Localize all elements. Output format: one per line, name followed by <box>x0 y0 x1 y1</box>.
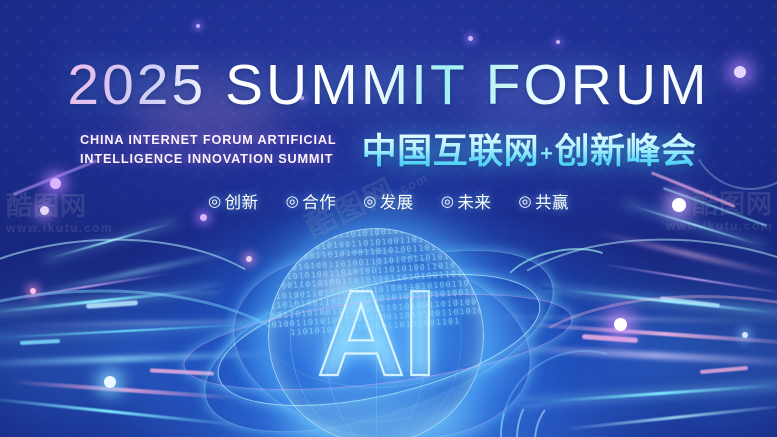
keyword-label: 发展 <box>380 189 414 213</box>
keyword-label: 创新 <box>225 189 259 213</box>
keyword-item-winwin: ◎ 共赢 <box>518 189 569 213</box>
chinese-title-part1: 中国互联网 <box>362 132 540 171</box>
keyword-label: 共赢 <box>535 189 569 213</box>
poster-canvas: 0100110101001110010110010011010100101101… <box>0 0 777 437</box>
subtitle-row: CHINA INTERNET FORUM ARTIFICIAL INTELLIG… <box>0 124 777 175</box>
page-title: 2025 SUMMIT FORUM <box>0 57 777 114</box>
chinese-title: 中国互联网+创新峰会 <box>362 123 697 174</box>
double-circle-icon: ◎ <box>208 194 222 209</box>
chinese-title-part2: 创新峰会 <box>555 132 697 171</box>
keyword-item-future: ◎ 未来 <box>441 189 492 213</box>
keyword-label: 未来 <box>457 189 491 213</box>
english-subtitle: CHINA INTERNET FORUM ARTIFICIAL INTELLIG… <box>80 131 337 168</box>
double-circle-icon: ◎ <box>441 194 455 209</box>
keyword-item-development: ◎ 发展 <box>363 189 414 213</box>
keyword-item-cooperation: ◎ 合作 <box>286 189 337 213</box>
double-circle-icon: ◎ <box>363 194 377 209</box>
sphere-base-glow <box>286 398 476 437</box>
keyword-list: ◎ 创新 ◎ 合作 ◎ 发展 ◎ 未来 ◎ 共赢 <box>0 189 777 213</box>
double-circle-icon: ◎ <box>518 194 532 209</box>
english-subtitle-line1: CHINA INTERNET FORUM ARTIFICIAL <box>80 131 337 150</box>
keyword-label: 合作 <box>302 189 336 213</box>
plus-symbol: + <box>539 141 554 166</box>
keyword-item-innovation: ◎ 创新 <box>208 189 259 213</box>
english-subtitle-line2: INTELLIGENCE INNOVATION SUMMIT <box>80 150 337 169</box>
double-circle-icon: ◎ <box>286 194 300 209</box>
